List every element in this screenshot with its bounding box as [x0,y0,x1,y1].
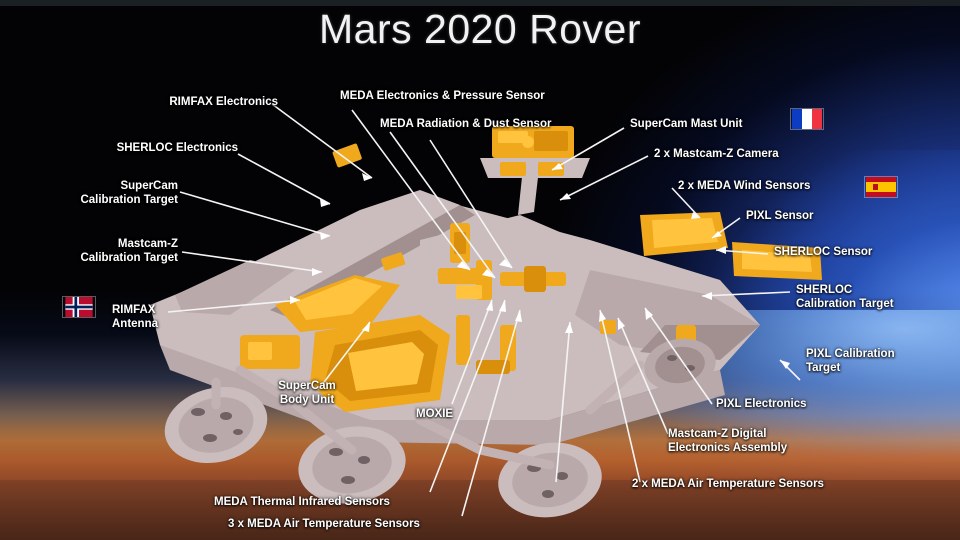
diagram-canvas: Mars 2020 Rover [0,0,960,540]
label-meda-thermal-infrared-sensors: MEDA Thermal Infrared Sensors [214,496,504,510]
rover-mast [480,126,590,215]
label-sherloc-sensor: SHERLOC Sensor [774,246,944,260]
flag-france-icon [790,108,824,130]
label-meda-air-temperature-sensors-2: 2 x MEDA Air Temperature Sensors [632,478,932,492]
label-rimfax-electronics: RIMFAX Electronics [78,96,278,110]
label-mastcam-z-calibration-target: Mastcam-Z Calibration Target [48,238,178,265]
label-meda-electronics-pressure-sensor: MEDA Electronics & Pressure Sensor [340,90,630,104]
label-sherloc-calibration-target: SHERLOC Calibration Target [796,284,946,311]
label-pixl-electronics: PIXL Electronics [716,398,866,412]
flag-norway-icon [62,296,96,318]
label-mastcam-z-digital-electronics-assembly: Mastcam-Z Digital Electronics Assembly [668,428,858,455]
label-sherloc-electronics: SHERLOC Electronics [48,142,238,156]
label-meda-radiation-dust-sensor: MEDA Radiation & Dust Sensor [380,118,630,132]
flag-spain-icon [864,176,898,198]
label-moxie: MOXIE [416,408,486,422]
label-pixl-calibration-target: PIXL Calibration Target [806,348,946,375]
label-pixl-sensor: PIXL Sensor [746,210,876,224]
label-meda-wind-sensors: 2 x MEDA Wind Sensors [678,180,858,194]
label-supercam-mast-unit: SuperCam Mast Unit [630,118,790,132]
label-supercam-calibration-target: SuperCam Calibration Target [48,180,178,207]
label-rimfax-antenna: RIMFAX Antenna [112,304,222,331]
label-mastcam-z-camera: 2 x Mastcam-Z Camera [654,148,834,162]
label-meda-air-temperature-sensors-3: 3 x MEDA Air Temperature Sensors [228,518,528,532]
page-title: Mars 2020 Rover [0,6,960,53]
label-supercam-body-unit: SuperCam Body Unit [252,380,362,407]
